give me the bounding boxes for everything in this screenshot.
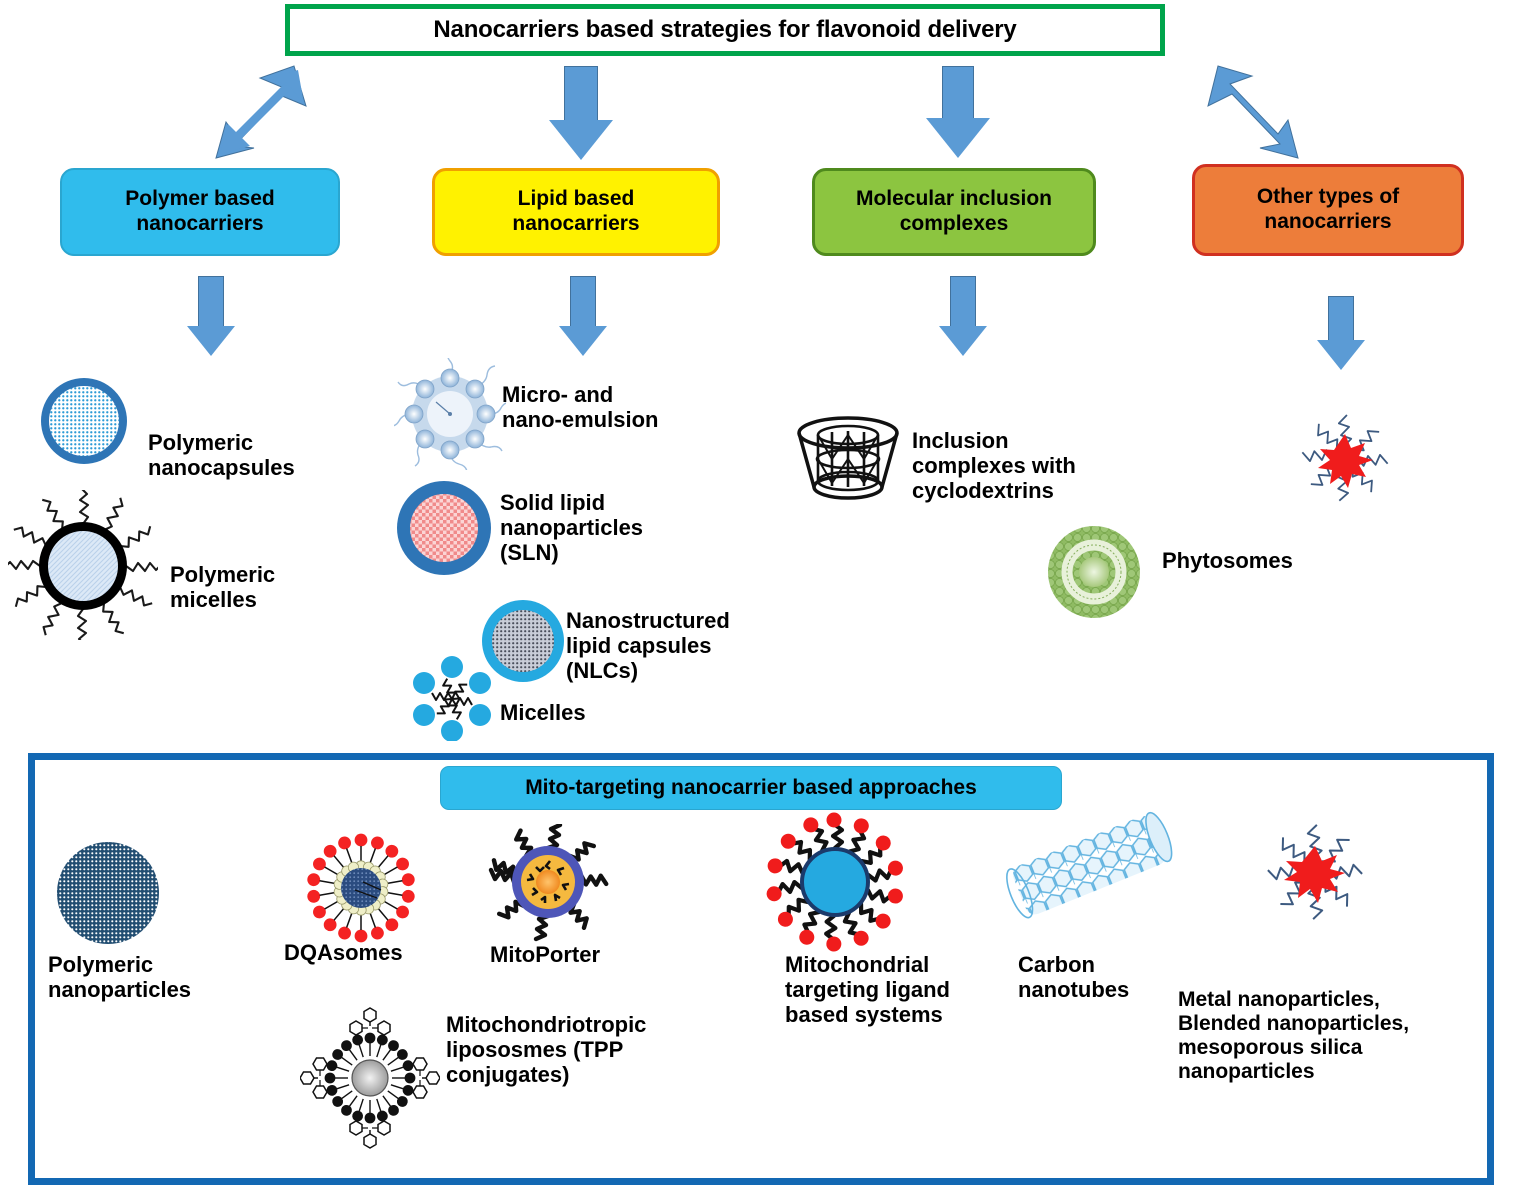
cyclodextrin-cage-icon	[792, 415, 904, 510]
label-dqasomes: DQAsomes	[284, 940, 494, 965]
emulsion-droplet-icon	[394, 358, 506, 475]
mitoporter-icon	[486, 824, 610, 949]
label-polymeric-nanoparticles: Polymeric nanoparticles	[48, 952, 258, 1002]
polymeric-nanoparticle-icon	[55, 840, 161, 951]
mito-panel-header: Mito-targeting nanocarrier based approac…	[440, 766, 1062, 810]
label-mitoporter: MitoPorter	[490, 942, 700, 967]
sln-particle-icon	[394, 478, 494, 583]
dqasome-icon	[305, 832, 417, 949]
label-micro-nano-emulsion: Micro- and nano-emulsion	[502, 382, 732, 432]
label-nlc: Nanostructured lipid capsules (NLCs)	[566, 608, 806, 683]
micelle-cluster-icon	[400, 655, 510, 746]
label-phytosomes: Phytosomes	[1162, 548, 1392, 573]
other-phytosome-burst-icon	[1280, 398, 1410, 528]
label-ligand-systems: Mitochondrial targeting ligand based sys…	[785, 952, 1000, 1027]
phytosome-icon	[1046, 524, 1142, 625]
label-polymeric-micelles: Polymeric micelles	[170, 562, 390, 612]
category-label-molecular: Molecular inclusion complexes	[856, 187, 1052, 237]
category-label-polymer: Polymer based nanocarriers	[125, 187, 274, 237]
category-label-lipid: Lipid based nanocarriers	[512, 187, 639, 237]
label-metal-nanoparticles: Metal nanoparticles, Blended nanoparticl…	[1178, 988, 1488, 1084]
label-sln: Solid lipid nanoparticles (SLN)	[500, 490, 730, 565]
label-cyclodextrins: Inclusion complexes with cyclodextrins	[912, 428, 1142, 503]
polymeric-micelle-icon	[8, 490, 158, 645]
diagram-title-box: Nanocarriers based strategies for flavon…	[285, 4, 1165, 56]
page-title: Nanocarriers based strategies for flavon…	[433, 16, 1016, 44]
category-box-other[interactable]: Other types of nanocarriers	[1192, 164, 1464, 256]
category-box-molecular[interactable]: Molecular inclusion complexes	[812, 168, 1096, 256]
category-box-lipid[interactable]: Lipid based nanocarriers	[432, 168, 720, 256]
polymeric-nanocapsule-icon	[38, 375, 130, 472]
carbon-nanotube-icon	[1000, 800, 1175, 935]
arrow-to-polymer	[198, 62, 308, 162]
label-carbon-nanotubes: Carbon nanotubes	[1018, 952, 1178, 1002]
category-box-polymer[interactable]: Polymer based nanocarriers	[60, 168, 340, 256]
category-label-other: Other types of nanocarriers	[1257, 185, 1399, 235]
arrow-to-other	[1206, 60, 1316, 162]
tpp-liposome-icon	[300, 1000, 440, 1155]
mito-panel-header-label: Mito-targeting nanocarrier based approac…	[525, 776, 977, 800]
ligand-nanoparticle-icon	[765, 812, 905, 957]
label-micelles: Micelles	[500, 700, 700, 725]
metal-nanoparticle-icon	[1240, 800, 1390, 945]
label-polymeric-nanocapsules: Polymeric nanocapsules	[148, 430, 378, 480]
label-tpp-liposomes: Mitochondriotropic lipososmes (TPP conju…	[446, 1012, 711, 1087]
